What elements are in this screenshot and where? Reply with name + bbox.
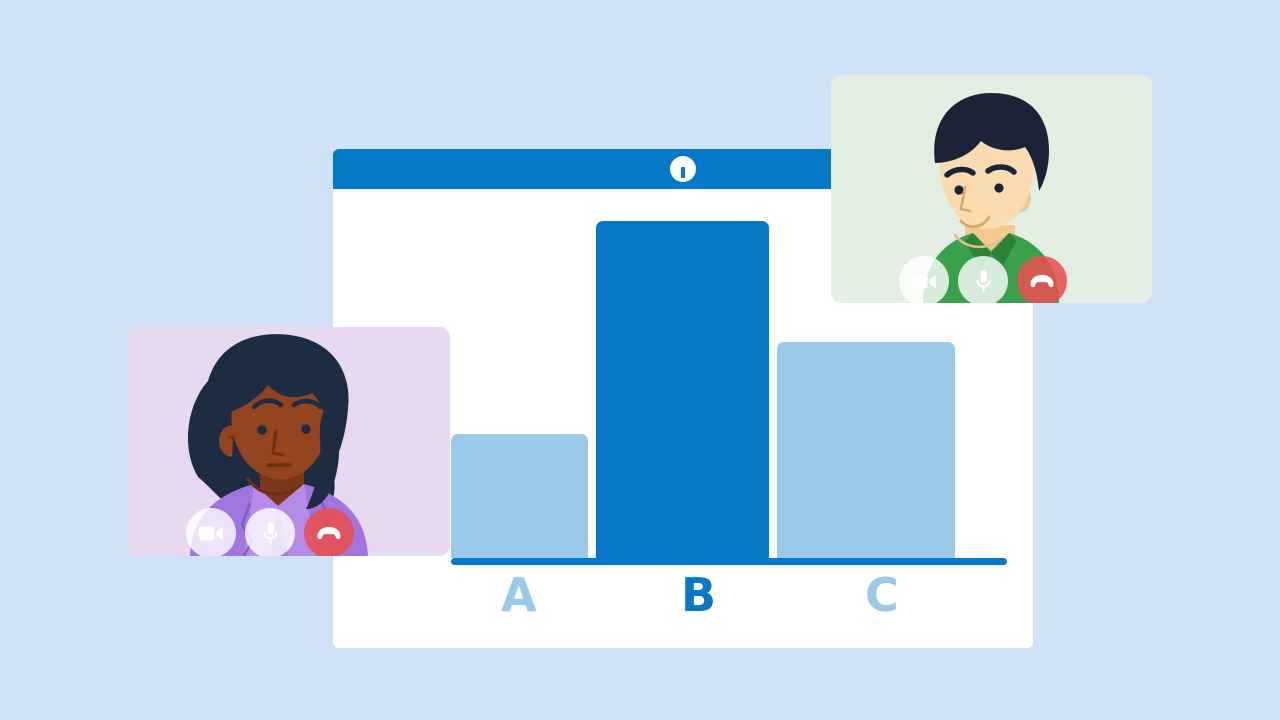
microphone-icon	[262, 521, 279, 545]
call-controls-remote	[899, 256, 1076, 303]
chart-tick-label-c: C	[865, 572, 899, 618]
camera-button[interactable]	[899, 256, 949, 303]
chart-bar-b[interactable]	[596, 221, 769, 558]
video-tile-remote[interactable]	[831, 75, 1152, 303]
camera-button[interactable]	[186, 508, 236, 556]
video-tile-local[interactable]	[128, 327, 450, 556]
hang-up-button[interactable]	[304, 508, 354, 556]
chart-x-axis	[451, 558, 1007, 565]
chart-bar-c[interactable]	[777, 342, 955, 558]
chart-tick-label-b: B	[681, 572, 716, 618]
call-controls-local	[186, 508, 363, 556]
chart-x-tick-labels: A B C	[333, 572, 1033, 632]
microphone-button[interactable]	[245, 508, 295, 556]
hang-up-button[interactable]	[1017, 256, 1067, 303]
phone-hangup-icon	[1029, 274, 1055, 288]
bar-chart-icon	[670, 156, 696, 182]
chart-tick-label-a: A	[501, 572, 537, 618]
microphone-button[interactable]	[958, 256, 1008, 303]
icon-bar-3	[681, 170, 685, 178]
phone-hangup-icon	[316, 526, 342, 540]
chart-bar-a[interactable]	[451, 434, 588, 558]
camera-icon	[199, 525, 223, 542]
camera-icon	[912, 273, 936, 290]
screen: A B C	[0, 0, 1280, 720]
microphone-icon	[975, 269, 992, 293]
